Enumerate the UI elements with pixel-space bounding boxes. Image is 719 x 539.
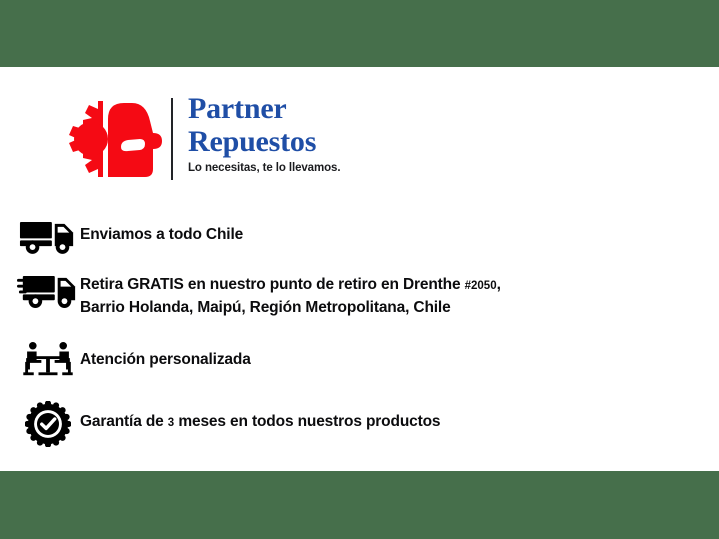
logo-divider: [171, 98, 173, 180]
delivery-truck-icon: [16, 218, 80, 255]
pickup-street-number: #2050: [465, 280, 497, 292]
pickup-text-part-2: ,: [497, 276, 501, 293]
feature-row-pickup: Retira GRATIS en nuestro punto de retiro…: [16, 272, 706, 319]
warranty-text-part-2: meses en todos nuestros productos: [174, 413, 440, 430]
brand-line-2: Repuestos: [188, 125, 608, 158]
people-at-table-icon: [16, 341, 80, 379]
feature-row-shipping: Enviamos a todo Chile: [16, 218, 706, 255]
top-green-band: [0, 0, 719, 67]
warranty-text-part-1: Garantía de: [80, 413, 168, 430]
brand-tagline: Lo necesitas, te lo llevamos.: [188, 162, 608, 174]
brand-wordmark: Partner Repuestos Lo necesitas, te lo ll…: [188, 92, 608, 174]
feature-row-service: Atención personalizada: [16, 341, 706, 379]
feature-row-warranty: Garantía de 3 meses en todos nuestros pr…: [16, 401, 706, 447]
feature-text-warranty: Garantía de 3 meses en todos nuestros pr…: [80, 401, 706, 434]
gear-car-icon: [58, 95, 162, 183]
bottom-green-band: [0, 471, 719, 539]
brand-logo: Partner Repuestos Lo necesitas, te lo ll…: [58, 94, 618, 186]
guarantee-badge-check-icon: [16, 401, 80, 447]
promo-banner: Partner Repuestos Lo necesitas, te lo ll…: [0, 0, 719, 539]
feature-text-pickup: Retira GRATIS en nuestro punto de retiro…: [80, 272, 706, 319]
pickup-text-line-2: Barrio Holanda, Maipú, Región Metropolit…: [80, 299, 451, 316]
moving-truck-icon: [16, 272, 80, 309]
feature-text-service: Atención personalizada: [80, 341, 706, 371]
brand-line-1: Partner: [188, 92, 608, 125]
feature-text-shipping: Enviamos a todo Chile: [80, 218, 706, 246]
pickup-text-part-1: Retira GRATIS en nuestro punto de retiro…: [80, 276, 465, 293]
